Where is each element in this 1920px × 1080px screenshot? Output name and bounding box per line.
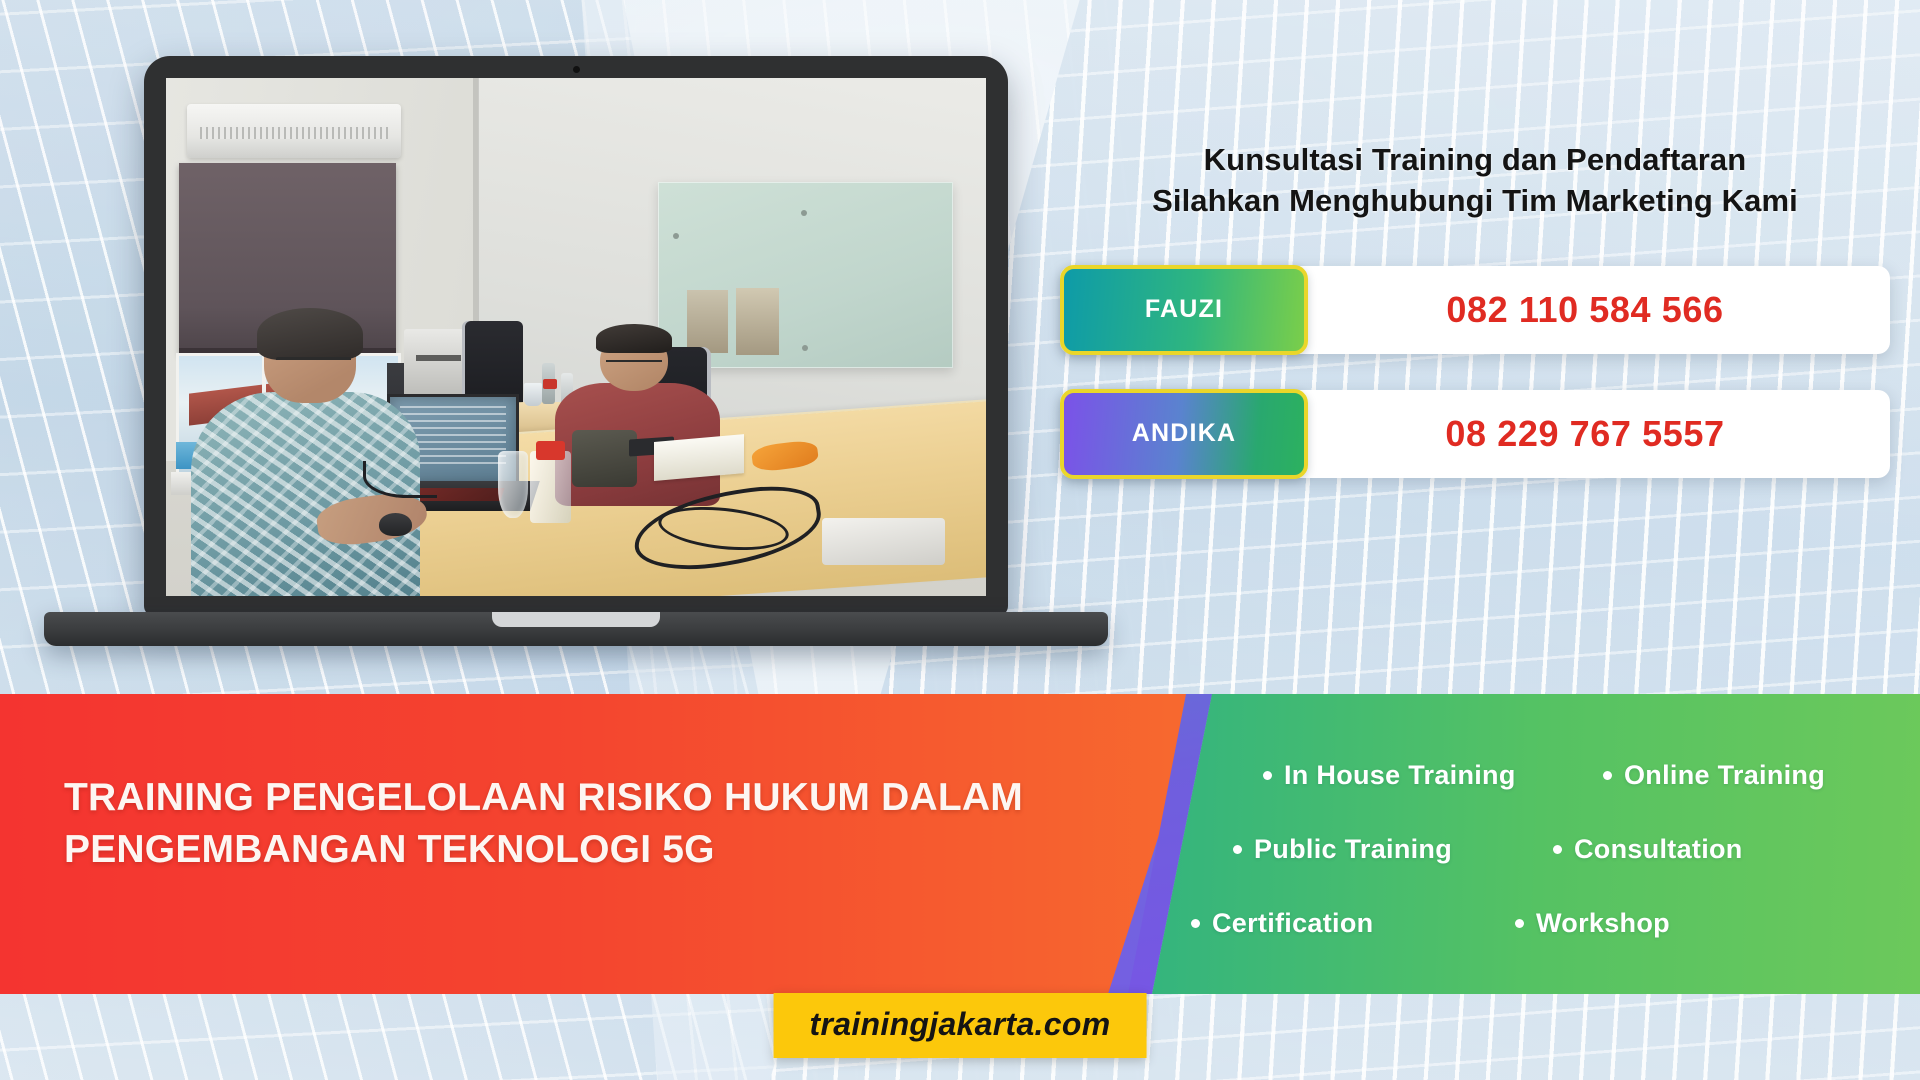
training-title: TRAINING PENGELOLAAN RISIKO HUKUM DALAM … <box>64 772 1124 877</box>
contact-name-label: FAUZI <box>1145 295 1223 324</box>
contact-heading-line-2: Silahkan Menghubungi Tim Marketing Kami <box>1060 181 1890 222</box>
training-title-line-1: TRAINING PENGELOLAAN RISIKO HUKUM DALAM <box>64 772 1124 824</box>
contact-block: Kunsultasi Training dan Pendaftaran Sila… <box>1060 140 1890 478</box>
service-item-in-house-training: In House Training <box>1263 760 1516 791</box>
bullet-icon <box>1263 771 1272 780</box>
service-label: Consultation <box>1574 834 1743 865</box>
training-title-line-2: PENGEMBANGAN TEKNOLOGI 5G <box>64 824 1124 876</box>
contact-name-badge-andika: ANDIKA <box>1060 389 1308 479</box>
bullet-icon <box>1191 919 1200 928</box>
webcam-icon <box>573 66 580 73</box>
service-label: Workshop <box>1536 908 1670 939</box>
person-hair <box>596 324 672 354</box>
bullet-icon <box>1553 845 1562 854</box>
service-item-workshop: Workshop <box>1515 908 1670 939</box>
contact-phone-fauzi[interactable]: 082 110 584 566 <box>1308 289 1890 331</box>
service-label: Online Training <box>1624 760 1825 791</box>
contact-heading: Kunsultasi Training dan Pendaftaran Sila… <box>1060 140 1890 222</box>
bullet-icon <box>1515 919 1524 928</box>
laptop-mockup <box>44 56 1108 656</box>
glass-jar <box>530 451 571 524</box>
meeting-room-photo <box>166 78 986 596</box>
laptop-trackpad-notch <box>492 612 660 627</box>
service-list: In House Training Online Training Public… <box>1215 740 1915 968</box>
contact-heading-line-1: Kunsultasi Training dan Pendaftaran <box>1060 140 1890 181</box>
service-label: Public Training <box>1254 834 1452 865</box>
camera-bag <box>572 430 638 487</box>
open-notebook <box>654 434 744 481</box>
person-hair <box>257 308 363 360</box>
air-conditioner <box>187 104 400 158</box>
contact-name-badge-fauzi: FAUZI <box>1060 265 1308 355</box>
drinking-glass <box>498 451 528 518</box>
laptop-screen <box>166 78 986 596</box>
contact-rows: FAUZI 082 110 584 566 ANDIKA 08 229 767 … <box>1060 266 1890 478</box>
contact-name-label: ANDIKA <box>1132 419 1236 448</box>
cup <box>524 383 542 407</box>
computer-mouse <box>379 513 412 536</box>
person-seated-near <box>191 316 421 596</box>
service-item-online-training: Online Training <box>1603 760 1825 791</box>
contact-row-fauzi[interactable]: FAUZI 082 110 584 566 <box>1060 266 1890 354</box>
website-badge[interactable]: trainingjakarta.com <box>774 993 1147 1058</box>
contact-phone-andika[interactable]: 08 229 767 5557 <box>1308 413 1890 455</box>
service-label: Certification <box>1212 908 1373 939</box>
service-item-consultation: Consultation <box>1553 834 1743 865</box>
laptop-lid <box>144 56 1008 616</box>
bullet-icon <box>1233 845 1242 854</box>
contact-row-andika[interactable]: ANDIKA 08 229 767 5557 <box>1060 390 1890 478</box>
eyeglasses-icon <box>276 357 352 369</box>
projector <box>822 518 945 565</box>
bullet-icon <box>1603 771 1612 780</box>
website-url: trainingjakarta.com <box>810 1006 1111 1043</box>
bottom-banner: TRAINING PENGELOLAAN RISIKO HUKUM DALAM … <box>0 694 1920 994</box>
eyeglasses-icon <box>606 360 661 367</box>
service-item-certification: Certification <box>1191 908 1373 939</box>
whiteboard-note <box>736 288 779 355</box>
promo-poster: Kunsultasi Training dan Pendaftaran Sila… <box>0 0 1920 1080</box>
whiteboard-mount <box>801 210 807 216</box>
service-label: In House Training <box>1284 760 1516 791</box>
service-item-public-training: Public Training <box>1233 834 1452 865</box>
